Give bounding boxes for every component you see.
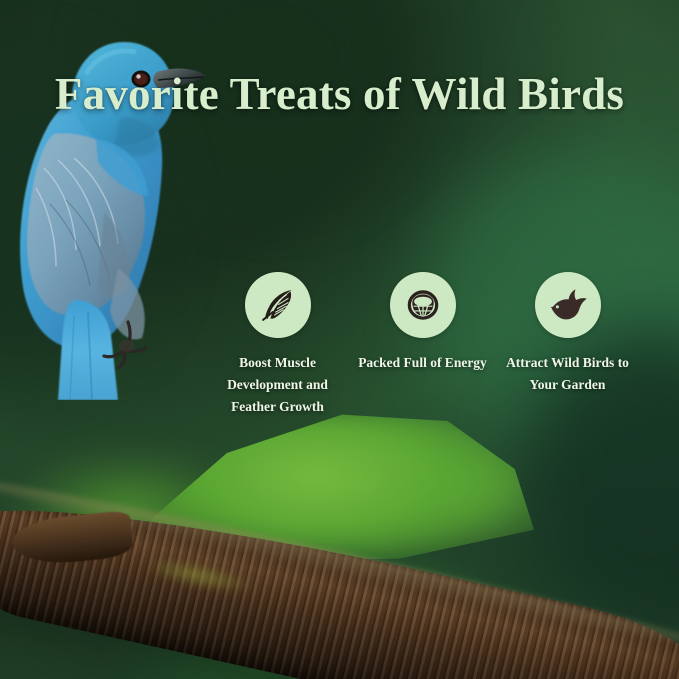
feature-label: Attract Wild Birds to Your Garden: [495, 352, 640, 396]
feature-item-energy: Packed Full of Energy: [350, 272, 495, 418]
product-feature-poster: Favorite Treats of Wild Birds: [0, 0, 679, 679]
feature-item-attract-birds: Attract Wild Birds to Your Garden: [495, 272, 640, 418]
bird-foot-grip: [119, 340, 135, 352]
feather-icon: [259, 286, 297, 324]
feature-icon-badge: [390, 272, 456, 338]
feature-label: Packed Full of Energy: [358, 352, 487, 374]
feature-label: Boost Muscle Development and Feather Gro…: [208, 352, 348, 418]
feature-list: Boost Muscle Development and Feather Gro…: [205, 272, 675, 418]
flying-bird-icon: [548, 285, 588, 325]
feature-icon-badge: [245, 272, 311, 338]
feature-icon-badge: [535, 272, 601, 338]
page-title: Favorite Treats of Wild Birds: [0, 68, 679, 120]
feature-item-muscle-development: Boost Muscle Development and Feather Gro…: [205, 272, 350, 418]
suet-ball-feeder-icon: [404, 286, 442, 324]
